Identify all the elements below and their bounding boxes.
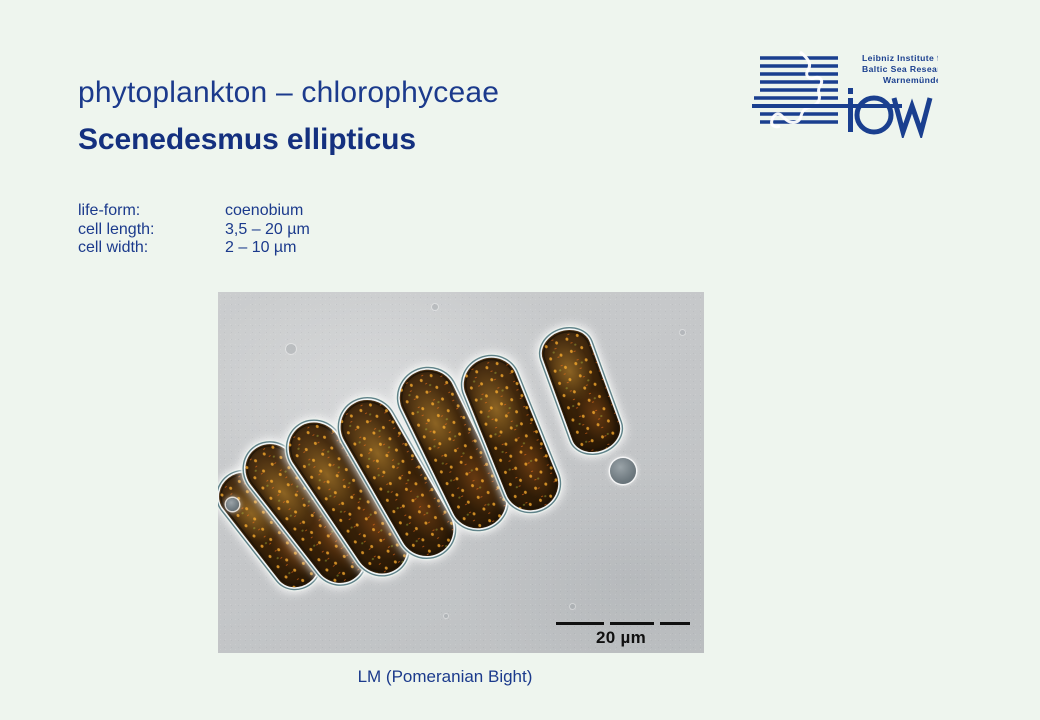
species-title: Scenedesmus ellipticus — [78, 123, 499, 156]
iow-o-glyph — [857, 98, 891, 132]
fact-row-life-form: life-form: coenobium — [78, 202, 310, 221]
species-facts: life-form: coenobium cell length: 3,5 – … — [78, 202, 310, 258]
iow-wordmark — [848, 88, 853, 132]
fact-row-cell-length: cell length: 3,5 – 20 µm — [78, 221, 310, 240]
logo-line-2: Baltic Sea Research — [862, 64, 938, 74]
fact-value-life-form: coenobium — [225, 202, 303, 221]
iow-logo: Leibniz Institute for Baltic Sea Researc… — [752, 50, 938, 138]
fact-value-cell-width: 2 – 10 µm — [225, 239, 296, 258]
fact-row-cell-width: cell width: 2 – 10 µm — [78, 239, 310, 258]
micrograph-speck — [680, 330, 685, 335]
iow-w-glyph — [894, 98, 930, 132]
fact-label-cell-width: cell width: — [78, 239, 225, 258]
fact-label-life-form: life-form: — [78, 202, 225, 221]
scale-bar — [556, 622, 690, 625]
iow-logo-graphic: Leibniz Institute for Baltic Sea Researc… — [752, 50, 938, 138]
baltic-sea-stripes-icon — [752, 58, 838, 122]
logo-line-1: Leibniz Institute for — [862, 53, 938, 63]
fact-label-cell-length: cell length: — [78, 221, 225, 240]
micrograph-speck — [286, 344, 296, 354]
slide-root: phytoplankton – chlorophyceae Scenedesmu… — [0, 0, 1040, 720]
image-caption-text: LM (Pomeranian Bight) — [358, 667, 533, 686]
micrograph-speck — [432, 304, 438, 310]
micrograph-speck — [444, 614, 448, 618]
debris-particle — [226, 498, 239, 511]
category-title: phytoplankton – chlorophyceae — [78, 76, 499, 109]
debris-particle — [610, 458, 636, 484]
fact-value-cell-length: 3,5 – 20 µm — [225, 221, 310, 240]
logo-line-3: Warnemünde — [883, 75, 938, 85]
image-caption: LM (Pomeranian Bight) — [0, 667, 1040, 687]
page-title: phytoplankton – chlorophyceae Scenedesmu… — [78, 76, 499, 156]
micrograph-speck — [570, 604, 575, 609]
micrograph-image: 20 µm — [218, 292, 704, 653]
scale-bar-label: 20 µm — [596, 628, 646, 648]
